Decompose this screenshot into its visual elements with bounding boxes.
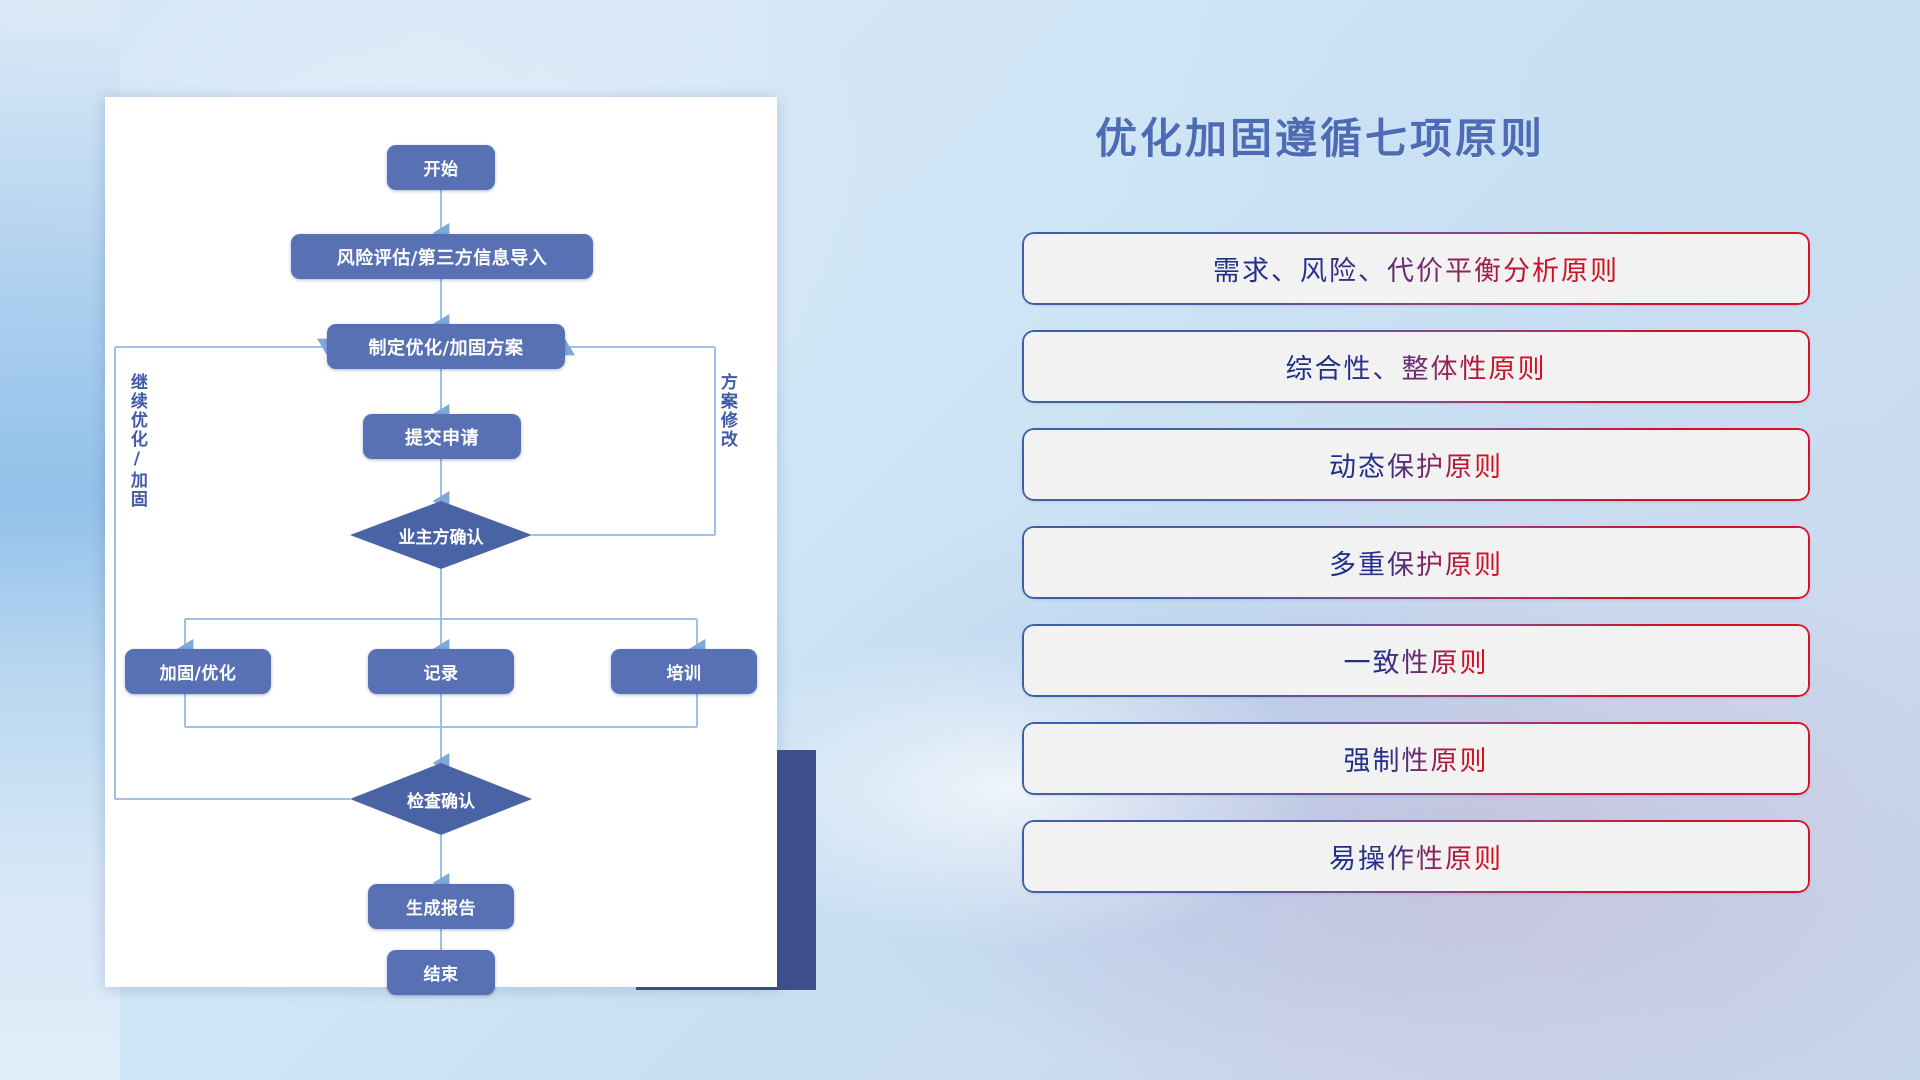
flow-node-submit-application-label: 提交申请 — [405, 424, 479, 450]
page-title: 优化加固遵循七项原则 — [1000, 105, 1640, 166]
flow-node-start-label: 开始 — [424, 155, 459, 180]
principle-card-4[interactable]: 多重保护原则 — [1022, 526, 1810, 599]
flow-decision-check-confirm[interactable]: 检查确认 — [350, 763, 532, 835]
principle-card-2[interactable]: 综合性、整体性原则 — [1022, 330, 1810, 403]
principle-card-1-label: 需求、风险、代价平衡分析原则 — [1213, 249, 1619, 288]
flow-node-risk-assessment-label: 风险评估/第三方信息导入 — [337, 244, 548, 270]
flow-node-plan-label: 制定优化/加固方案 — [368, 334, 523, 360]
flow-node-end[interactable]: 结束 — [387, 950, 495, 995]
flow-node-end-label: 结束 — [424, 960, 459, 985]
flow-edge-label-continue-optimize: 继续优化/加固 — [127, 373, 145, 509]
flow-node-training[interactable]: 培训 — [611, 649, 757, 694]
flowchart-canvas: 开始 风险评估/第三方信息导入 制定优化/加固方案 提交申请 业主方确认 加固/… — [105, 97, 777, 987]
principle-card-list: 需求、风险、代价平衡分析原则 综合性、整体性原则 动态保护原则 多重保护原则 一… — [1022, 232, 1810, 918]
principle-card-7[interactable]: 易操作性原则 — [1022, 820, 1810, 893]
principle-card-7-label: 易操作性原则 — [1329, 837, 1503, 876]
background-left-gradient-band — [0, 0, 120, 1080]
principle-card-6-label: 强制性原则 — [1344, 739, 1489, 778]
principle-card-4-label: 多重保护原则 — [1329, 543, 1503, 582]
flowchart-panel: 开始 风险评估/第三方信息导入 制定优化/加固方案 提交申请 业主方确认 加固/… — [105, 97, 777, 987]
flow-node-generate-report[interactable]: 生成报告 — [368, 884, 514, 929]
principle-card-1[interactable]: 需求、风险、代价平衡分析原则 — [1022, 232, 1810, 305]
flow-node-plan[interactable]: 制定优化/加固方案 — [327, 324, 565, 369]
flow-node-record-label: 记录 — [424, 659, 459, 684]
flow-node-reinforce-label: 加固/优化 — [160, 659, 237, 684]
flow-node-risk-assessment[interactable]: 风险评估/第三方信息导入 — [291, 234, 593, 279]
principle-card-2-label: 综合性、整体性原则 — [1286, 347, 1547, 386]
flow-decision-owner-confirm-label: 业主方确认 — [399, 523, 484, 548]
principle-card-3-label: 动态保护原则 — [1329, 445, 1503, 484]
principle-card-6[interactable]: 强制性原则 — [1022, 722, 1810, 795]
flow-node-generate-report-label: 生成报告 — [406, 894, 476, 919]
principle-card-3[interactable]: 动态保护原则 — [1022, 428, 1810, 501]
flow-decision-owner-confirm[interactable]: 业主方确认 — [350, 501, 532, 569]
flow-decision-check-confirm-label: 检查确认 — [407, 787, 475, 812]
flow-node-record[interactable]: 记录 — [368, 649, 514, 694]
flow-node-training-label: 培训 — [667, 659, 702, 684]
principle-card-5-label: 一致性原则 — [1344, 641, 1489, 680]
flow-node-submit-application[interactable]: 提交申请 — [363, 414, 521, 459]
flow-edge-label-plan-revision: 方案修改 — [717, 373, 735, 449]
principle-card-5[interactable]: 一致性原则 — [1022, 624, 1810, 697]
flow-node-reinforce[interactable]: 加固/优化 — [125, 649, 271, 694]
flow-node-start[interactable]: 开始 — [387, 145, 495, 190]
